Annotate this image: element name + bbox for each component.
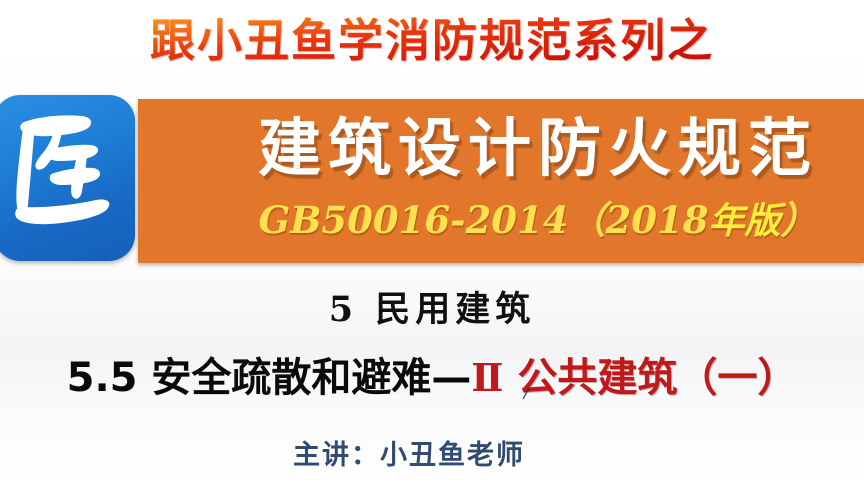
chapter-title: 5 民用建筑 (0, 286, 864, 334)
section-heading: 5.5 安全疏散和避难—Ⅱ 公共建筑（一） (0, 350, 864, 415)
standard-code-edition-close: ） (780, 198, 817, 242)
section-heading-red: 公共建筑（一） (503, 355, 797, 401)
section-heading-black: 5.5 安全疏散和避难— (67, 355, 472, 401)
standard-code-edition-open: （2018 (568, 198, 708, 242)
banner-standard-code: GB50016-2014（2018年版） (212, 197, 864, 252)
series-title: 跟小丑鱼学消防规范系列之 (0, 6, 864, 76)
presenter-line: 主讲：小丑鱼老师 (0, 436, 864, 476)
banner-main-title: 建筑设计防火规范 (212, 105, 864, 193)
presenter-text: 主讲：小丑鱼老师 (293, 440, 525, 471)
slide-canvas: 跟小丑鱼学消防规范系列之 建筑设计防火规范 GB50016-2014（2018年… (0, 0, 864, 486)
title-banner: 建筑设计防火规范 GB50016-2014（2018年版） (138, 99, 864, 263)
section-heading-roman-numeral: Ⅱ (471, 355, 503, 400)
jiang-logo (0, 95, 135, 261)
standard-code-edition-year: 年版 (708, 201, 780, 242)
standard-code-number: GB50016-2014 (259, 198, 569, 242)
